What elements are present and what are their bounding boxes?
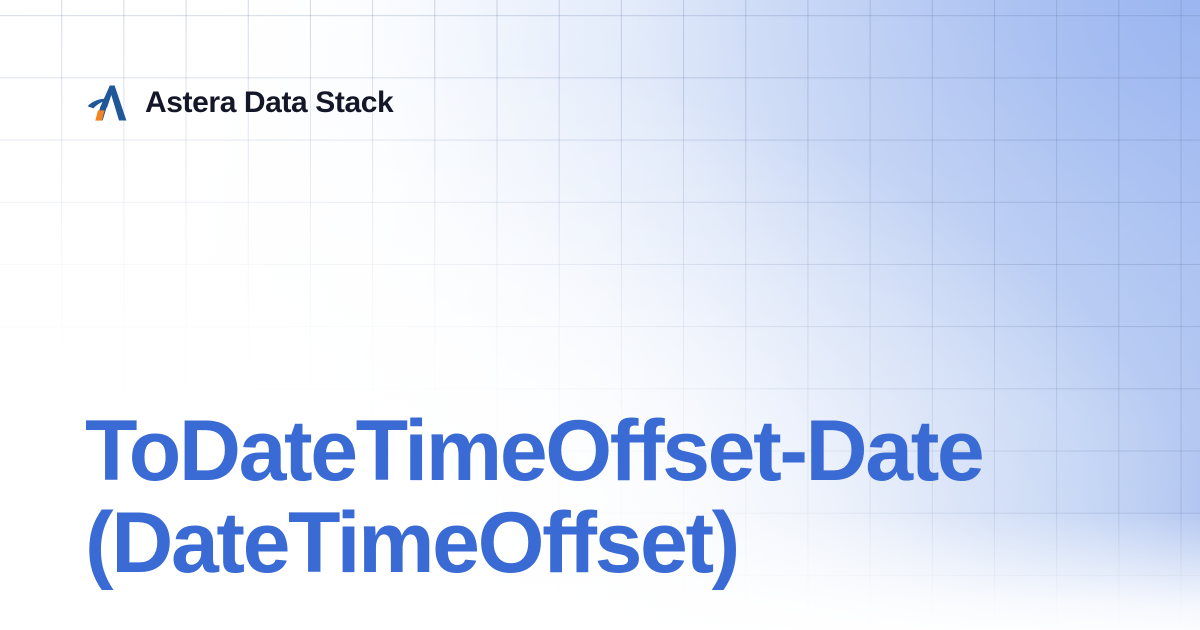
og-card: Astera Data Stack ToDateTimeOffset-Date … bbox=[0, 0, 1200, 630]
page-title: ToDateTimeOffset-Date (DateTimeOffset) bbox=[85, 405, 1125, 591]
brand-lockup: Astera Data Stack bbox=[85, 80, 393, 126]
brand-name: Astera Data Stack bbox=[145, 88, 393, 118]
astera-a-logo-icon bbox=[85, 80, 131, 126]
